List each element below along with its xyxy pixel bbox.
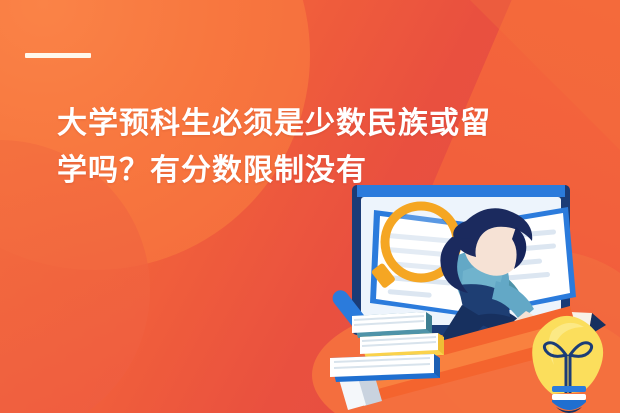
lightbulb-icon — [532, 316, 603, 413]
page-title-line-2: 学吗？有分数限制没有 — [57, 147, 587, 194]
promo-banner: 大学预科生必须是少数民族或留 学吗？有分数限制没有 — [0, 0, 620, 413]
stacked-books-icon — [330, 312, 444, 382]
page-title: 大学预科生必须是少数民族或留 学吗？有分数限制没有 — [57, 100, 587, 194]
education-research-illustration — [330, 185, 620, 413]
book-blue — [330, 354, 440, 382]
page-title-line-1: 大学预科生必须是少数民族或留 — [57, 100, 587, 147]
accent-dash-icon — [25, 53, 91, 58]
